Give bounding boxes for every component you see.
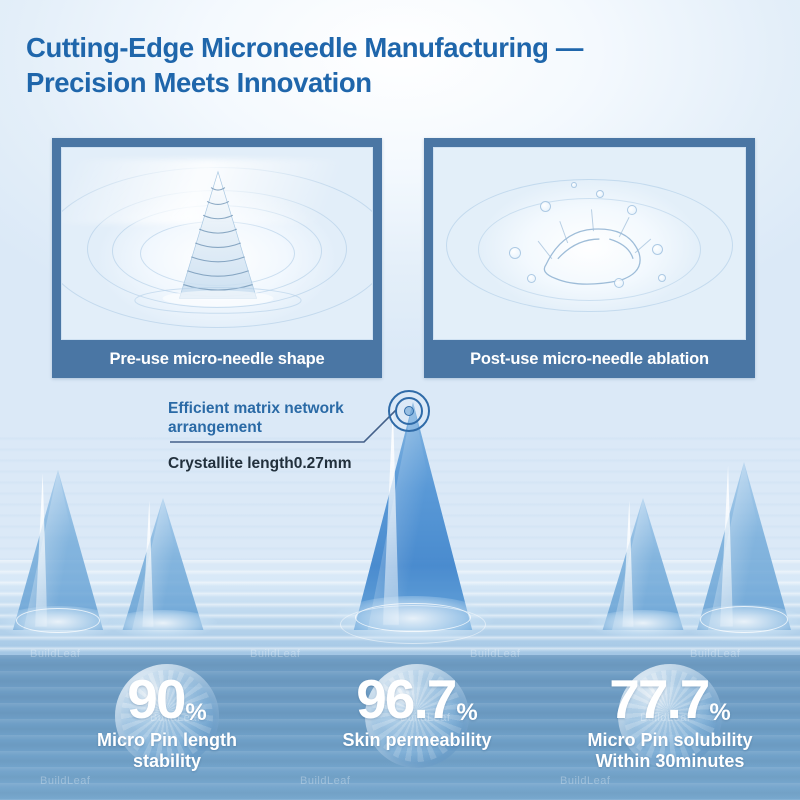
stat-card-micro-pin-length-stability: 90% Micro Pin length stability [42, 660, 292, 800]
stat-card-micro-pin-solubility: 77.7% Micro Pin solubility Within 30minu… [545, 660, 795, 800]
stat-value: 90% [42, 660, 292, 727]
panel-post-use-photo [433, 147, 746, 340]
microneedle-cone-photo [62, 148, 372, 339]
stat-number: 90 [127, 668, 184, 730]
panel-pre-use: Pre-use micro-needle shape [52, 138, 382, 378]
page-title: Cutting-Edge Microneedle Manufacturing —… [26, 30, 766, 100]
cone-needle-illustration [62, 148, 372, 339]
callout-label-secondary: Crystallite length0.27mm [168, 455, 428, 473]
stat-caption-line2: stability [133, 751, 201, 771]
stat-caption-line1: Skin permeability [342, 730, 491, 750]
stat-caption-line1: Micro Pin length [97, 730, 237, 750]
panel-pre-use-photo [61, 147, 373, 340]
water-splash-photo [434, 148, 745, 339]
microneedle-far-left [10, 470, 106, 630]
stat-caption: Micro Pin solubility Within 30minutes [545, 730, 795, 771]
stat-value: 77.7% [545, 660, 795, 727]
stat-number: 96.7 [356, 668, 455, 730]
stat-value: 96.7% [292, 660, 542, 727]
microneedle-left [120, 498, 206, 630]
stat-caption-line2: Within 30minutes [596, 751, 745, 771]
stat-caption: Micro Pin length stability [42, 730, 292, 771]
stat-caption-line1: Micro Pin solubility [587, 730, 752, 750]
callout-label-primary: Efficient matrix network arrangement [168, 400, 388, 438]
stat-caption: Skin permeability [292, 730, 542, 751]
stat-number: 77.7 [609, 668, 708, 730]
stat-unit: % [709, 699, 730, 726]
stat-unit: % [185, 699, 206, 726]
stat-unit: % [456, 699, 477, 726]
splash-crown-illustration [434, 148, 745, 339]
stat-card-skin-permeability: 96.7% Skin permeability [292, 660, 542, 800]
callout-target-icon [388, 390, 430, 432]
page-title-line1: Cutting-Edge Microneedle Manufacturing — [26, 32, 583, 63]
microneedle-right [600, 498, 686, 630]
panel-post-use-caption: Post-use micro-needle ablation [424, 340, 755, 378]
panel-pre-use-caption: Pre-use micro-needle shape [52, 340, 382, 378]
panel-post-use: Post-use micro-needle ablation [424, 138, 755, 378]
microneedle-far-right [694, 462, 794, 630]
page-title-line2: Precision Meets Innovation [26, 65, 766, 100]
